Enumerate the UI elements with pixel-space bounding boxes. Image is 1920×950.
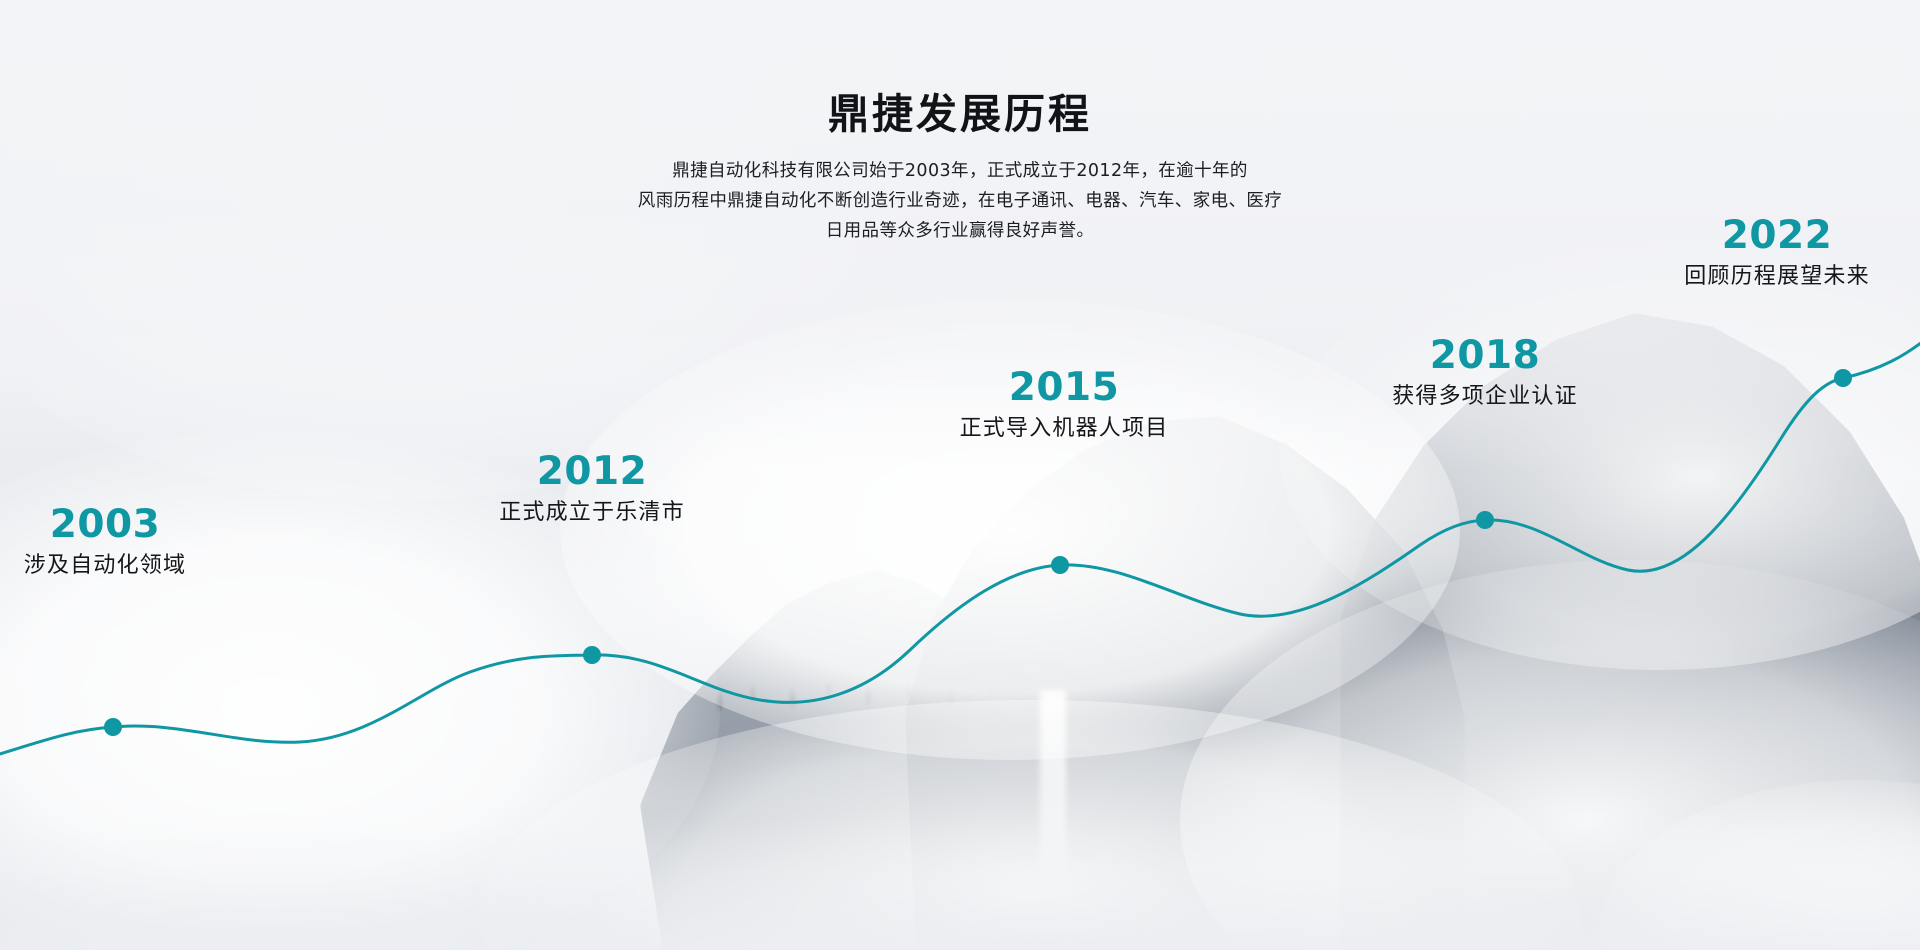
milestone-year-label: 2022 xyxy=(1684,216,1870,255)
milestone-year-label: 2015 xyxy=(960,368,1169,407)
timeline-dot-2015[interactable] xyxy=(1051,556,1069,574)
timeline-dot-2003[interactable] xyxy=(104,718,122,736)
subtitle-line-1: 鼎捷自动化科技有限公司始于2003年，正式成立于2012年，在逾十年的 xyxy=(0,156,1920,186)
timeline-dot-2012[interactable] xyxy=(583,646,601,664)
milestone-2012[interactable]: 2012正式成立于乐清市 xyxy=(499,452,685,526)
milestone-description: 正式成立于乐清市 xyxy=(499,500,685,526)
milestone-description: 涉及自动化领域 xyxy=(24,553,186,579)
page-title: 鼎捷发展历程 xyxy=(0,92,1920,138)
milestone-description: 正式导入机器人项目 xyxy=(960,416,1169,442)
milestone-2015[interactable]: 2015正式导入机器人项目 xyxy=(960,368,1169,442)
page-subtitle: 鼎捷自动化科技有限公司始于2003年，正式成立于2012年，在逾十年的 风雨历程… xyxy=(0,156,1920,246)
subtitle-line-2: 风雨历程中鼎捷自动化不断创造行业奇迹，在电子通讯、电器、汽车、家电、医疗 xyxy=(0,186,1920,216)
timeline-infographic: 鼎捷发展历程 鼎捷自动化科技有限公司始于2003年，正式成立于2012年，在逾十… xyxy=(0,0,1920,950)
milestone-year-label: 2003 xyxy=(24,505,186,544)
milestone-year-label: 2012 xyxy=(499,452,685,491)
timeline-dot-2018[interactable] xyxy=(1476,511,1494,529)
header: 鼎捷发展历程 鼎捷自动化科技有限公司始于2003年，正式成立于2012年，在逾十… xyxy=(0,0,1920,246)
milestone-2018[interactable]: 2018获得多项企业认证 xyxy=(1392,336,1578,410)
milestone-description: 获得多项企业认证 xyxy=(1392,384,1578,410)
milestone-year-label: 2018 xyxy=(1392,336,1578,375)
milestone-2022[interactable]: 2022回顾历程展望未来 xyxy=(1684,216,1870,290)
timeline-dot-2022[interactable] xyxy=(1834,369,1852,387)
milestone-description: 回顾历程展望未来 xyxy=(1684,264,1870,290)
subtitle-line-3: 日用品等众多行业赢得良好声誉。 xyxy=(0,216,1920,246)
milestone-2003[interactable]: 2003涉及自动化领域 xyxy=(24,505,186,579)
